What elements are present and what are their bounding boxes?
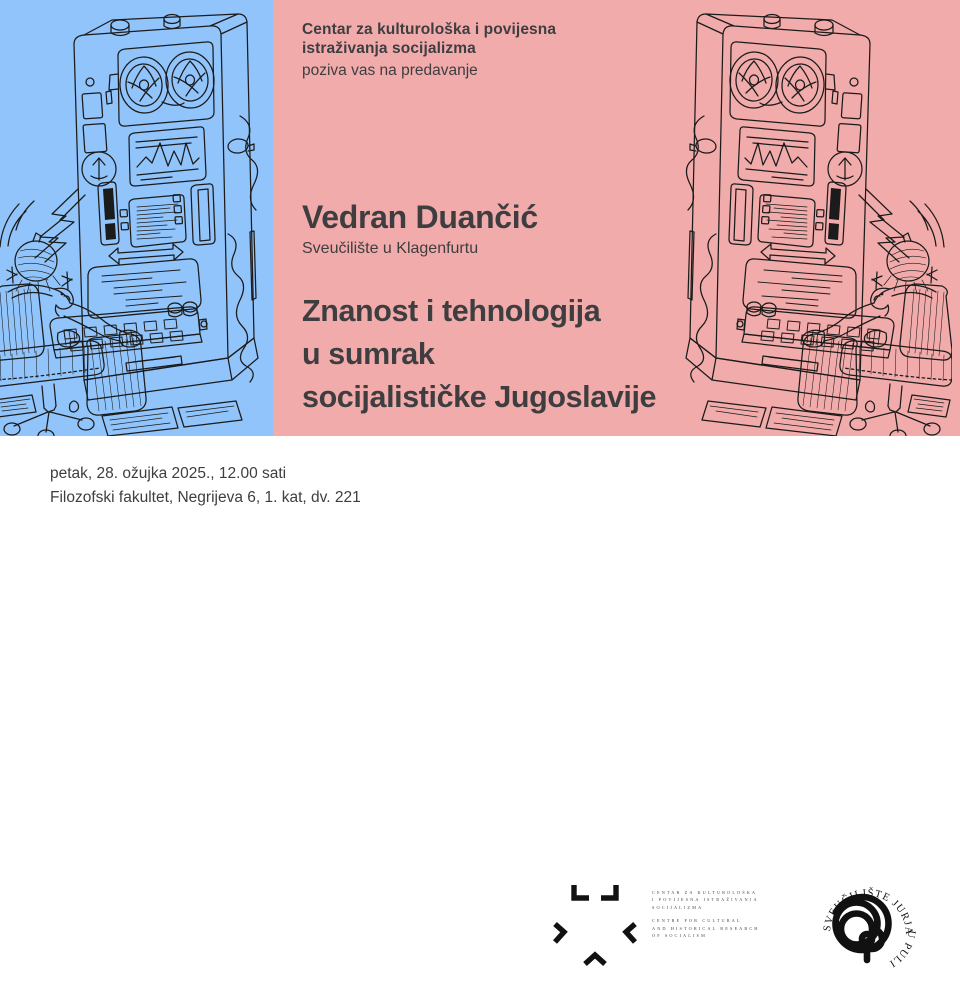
speaker-affiliation: Sveučilište u Klagenfurtu [302, 236, 772, 260]
event-location: Filozofski fakultet, Negrijeva 6, 1. kat… [50, 486, 361, 510]
organizer-line-2: istraživanja socijalizma [302, 39, 762, 58]
lecture-title: Znanost i tehnologija u sumrak socijalis… [302, 290, 772, 419]
cchrs-en-line-1: CENTRE FOR CULTURAL [652, 917, 802, 924]
organizer-block: Centar za kulturološka i povijesna istra… [302, 20, 762, 81]
cchrs-logo-mark [549, 880, 641, 968]
poster-text-column: Centar za kulturološka i povijesna istra… [302, 0, 772, 436]
organizer-line-1: Centar za kulturološka i povijesna [302, 20, 762, 39]
event-datetime: petak, 28. ožujka 2025., 12.00 sati [50, 462, 361, 486]
speaker-block: Vedran Duančić Sveučilište u Klagenfurtu [302, 198, 772, 260]
mainframe-operator-illustration-left [0, 8, 273, 436]
lecture-title-line-3: socijalističke Jugoslavije [302, 376, 772, 419]
cchrs-en-line-3: OF SOCIALISM [652, 932, 802, 939]
university-logo-arc-bottom: U PULI [887, 929, 917, 969]
cchrs-logo-text: CENTAR ZA KULTUROLOŠKA I POVIJESNA ISTRA… [652, 889, 802, 939]
poster-top-band: Centar za kulturološka i povijesna istra… [0, 0, 960, 436]
poster-footer: petak, 28. ožujka 2025., 12.00 sati Filo… [0, 436, 960, 540]
cchrs-hr-line-1: CENTAR ZA KULTUROLOŠKA [652, 889, 802, 896]
university-logo: SVEUČILIŠTE JURJA DOBRILE U PULI [814, 872, 920, 976]
poster: Centar za kulturološka i povijesna istra… [0, 0, 960, 540]
lecture-title-line-1: Znanost i tehnologija [302, 290, 772, 333]
left-blue-panel [0, 0, 273, 436]
lecture-title-line-2: u sumrak [302, 333, 772, 376]
invitation-line: poziva vas na predavanje [302, 58, 762, 81]
event-details: petak, 28. ožujka 2025., 12.00 sati Filo… [50, 462, 361, 510]
speaker-name: Vedran Duančić [302, 198, 772, 236]
cchrs-hr-line-2: I POVIJESNA ISTRAŽIVANJA [652, 896, 802, 903]
cchrs-hr-line-3: SOCIJALIZMA [652, 904, 802, 911]
cchrs-en-line-2: AND HISTORICAL RESEARCH [652, 925, 802, 932]
